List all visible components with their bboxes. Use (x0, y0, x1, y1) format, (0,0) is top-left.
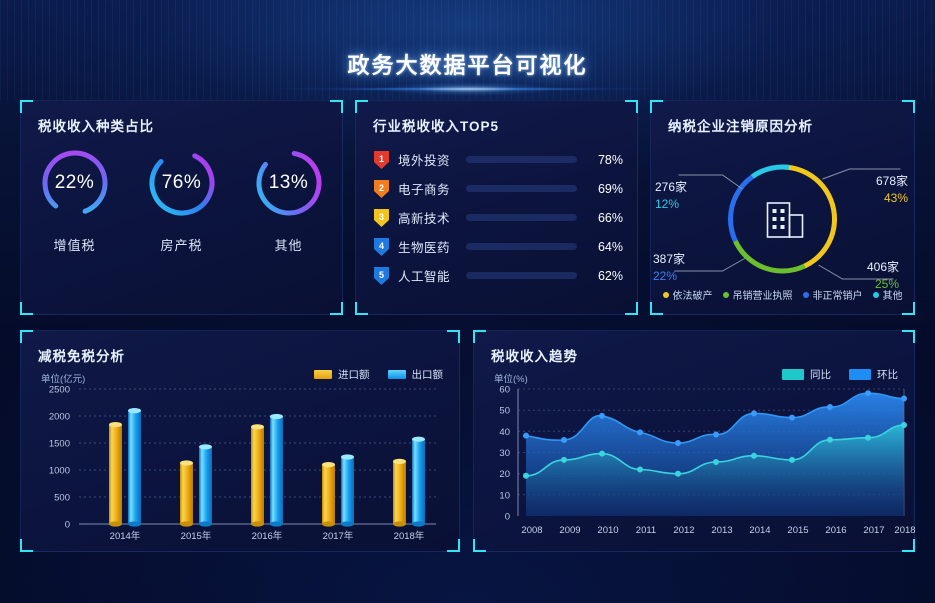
legend-item[interactable]: 其他 (873, 287, 903, 302)
corner-bracket-icon (355, 100, 368, 113)
legend-item[interactable]: 进口额 (314, 367, 370, 382)
rank-bar-track (466, 156, 577, 163)
panel-tax-types: 税收收入种类占比 22% 增值税 (20, 100, 343, 315)
rank-badge-icon: 2 (374, 180, 389, 198)
gauge-ring: 76% (146, 147, 218, 219)
gauge-value: 22% (39, 147, 111, 219)
svg-text:2011: 2011 (636, 525, 656, 536)
svg-text:2018年: 2018年 (394, 530, 425, 542)
legend-swatch-icon (849, 369, 871, 380)
corner-bracket-icon (650, 100, 663, 113)
slice-count-label: 276家 (655, 178, 717, 195)
svg-text:2009: 2009 (559, 525, 580, 536)
svg-text:2014: 2014 (749, 525, 770, 536)
corner-bracket-icon (902, 330, 915, 343)
rank-badge-icon: 4 (374, 238, 389, 256)
rank-badge-icon: 1 (374, 151, 389, 169)
gauge-value: 13% (253, 147, 325, 219)
rank-number: 2 (374, 180, 389, 198)
legend-dot-icon (803, 292, 809, 298)
corner-bracket-icon (625, 100, 638, 113)
svg-text:2016年: 2016年 (252, 530, 283, 542)
panel-title-industry-top5: 行业税收收入TOP5 (373, 115, 499, 135)
panel-title-tax-types: 税收收入种类占比 (38, 115, 154, 135)
legend-label: 其他 (883, 287, 903, 302)
corner-bracket-icon (20, 330, 33, 343)
corner-bracket-icon (902, 100, 915, 113)
legend-label: 依法破产 (673, 287, 713, 302)
svg-text:0: 0 (65, 520, 70, 531)
corner-bracket-icon (650, 302, 663, 315)
rank-bar-track (466, 272, 577, 279)
svg-text:2017年: 2017年 (323, 530, 354, 542)
rank-percent: 66% (587, 211, 623, 225)
area-chart[interactable]: 60 50 40 30 20 10 0 (474, 381, 916, 551)
bar-chart-legend: 进口额 出口额 (314, 367, 443, 382)
rank-badge-icon: 3 (374, 209, 389, 227)
svg-text:2015: 2015 (787, 525, 808, 536)
svg-text:60: 60 (499, 385, 510, 396)
svg-text:1500: 1500 (49, 439, 70, 450)
svg-text:2500: 2500 (49, 385, 70, 396)
corner-bracket-icon (20, 100, 33, 113)
building-icon (767, 203, 802, 237)
svg-text:2000: 2000 (49, 412, 70, 423)
slice-count-label: 406家 (837, 258, 899, 275)
header-light-core (358, 80, 578, 98)
svg-text:2017: 2017 (863, 525, 884, 536)
list-item[interactable]: 1 境外投资 78% (374, 145, 623, 174)
area-chart-legend: 同比 环比 (782, 367, 898, 382)
rank-name: 人工智能 (398, 266, 464, 285)
corner-bracket-icon (625, 302, 638, 315)
rank-list: 1 境外投资 78% 2 电子商务 69% 3 高新技术 66% (374, 145, 623, 290)
slice-count-label: 387家 (653, 250, 715, 267)
corner-bracket-icon (20, 302, 33, 315)
panel-cancel-reasons: 纳税企业注销原因分析 (650, 100, 915, 315)
list-item[interactable]: 3 高新技术 66% (374, 203, 623, 232)
rank-percent: 62% (587, 269, 623, 283)
legend-label: 进口额 (338, 367, 370, 382)
gauge-label: 其他 (239, 235, 339, 254)
legend-item[interactable]: 同比 (782, 367, 831, 382)
gauge-ring: 22% (39, 147, 111, 219)
legend-label: 同比 (810, 367, 831, 382)
svg-text:40: 40 (499, 427, 510, 438)
rank-name: 生物医药 (398, 237, 464, 256)
gauge-value: 76% (146, 147, 218, 219)
rank-bar-track (466, 214, 577, 221)
svg-text:2014年: 2014年 (110, 530, 141, 542)
legend-dot-icon (723, 292, 729, 298)
svg-text:1000: 1000 (49, 466, 70, 477)
rank-number: 3 (374, 209, 389, 227)
rank-number: 5 (374, 267, 389, 285)
gauge-qita[interactable]: 13% 其他 (239, 147, 339, 254)
corner-bracket-icon (447, 330, 460, 343)
svg-text:30: 30 (499, 448, 510, 459)
legend-item[interactable]: 出口额 (388, 367, 444, 382)
legend-dot-icon (873, 292, 879, 298)
svg-text:20: 20 (499, 469, 510, 480)
rank-name: 高新技术 (398, 208, 464, 227)
gauge-fangchanshui[interactable]: 76% 房产税 (132, 147, 232, 254)
svg-text:50: 50 (499, 406, 510, 417)
svg-text:2010: 2010 (597, 525, 618, 536)
svg-text:2008: 2008 (521, 525, 542, 536)
panel-tax-reduction: 减税免税分析 单位(亿元) 进口额 出口额 (20, 330, 460, 552)
legend-label: 吊销营业执照 (733, 287, 793, 302)
panel-title-tax-reduction: 减税免税分析 (38, 345, 125, 365)
panel-industry-top5: 行业税收收入TOP5 1 境外投资 78% 2 电子商务 69% 3 (355, 100, 638, 315)
rank-bar-track (466, 185, 577, 192)
gauge-ring: 13% (253, 147, 325, 219)
rank-bar-track (466, 243, 577, 250)
rank-name: 境外投资 (398, 150, 464, 169)
rank-percent: 69% (587, 182, 623, 196)
rank-name: 电子商务 (398, 179, 464, 198)
legend-swatch-icon (388, 370, 406, 379)
legend-item[interactable]: 非正常销户 (803, 287, 863, 302)
gauge-label: 房产税 (132, 235, 232, 254)
slice-count-label: 678家 (846, 172, 908, 189)
rank-percent: 78% (587, 153, 623, 167)
gauge-label: 增值税 (25, 235, 125, 254)
list-item[interactable]: 4 生物医药 64% (374, 232, 623, 261)
svg-text:2018: 2018 (894, 525, 915, 536)
legend-swatch-icon (782, 369, 804, 380)
slice-percent-label: 43% (846, 191, 908, 205)
list-item[interactable]: 5 人工智能 62% (374, 261, 623, 290)
panel-tax-trend: 税收收入趋势 单位(%) 同比 环比 (473, 330, 915, 552)
corner-bracket-icon (473, 330, 486, 343)
legend-item[interactable]: 吊销营业执照 (723, 287, 793, 302)
legend-label: 非正常销户 (813, 287, 863, 302)
legend-item[interactable]: 依法破产 (663, 287, 713, 302)
donut-chart-cancel-reasons[interactable]: 678家 43% 276家 12% 387家 22% 406家 25% (651, 131, 914, 291)
legend-dot-icon (663, 292, 669, 298)
slice-percent-label: 12% (655, 197, 717, 211)
corner-bracket-icon (330, 302, 343, 315)
page-title: 政务大数据平台可视化 (0, 48, 935, 80)
legend-label: 环比 (877, 367, 898, 382)
rank-number: 4 (374, 238, 389, 256)
legend-item[interactable]: 环比 (849, 367, 898, 382)
gauge-zengzhishui[interactable]: 22% 增值税 (25, 147, 125, 254)
rank-number: 1 (374, 151, 389, 169)
slice-percent-label: 22% (653, 269, 715, 283)
corner-bracket-icon (330, 100, 343, 113)
svg-text:0: 0 (505, 512, 510, 523)
svg-text:2015年: 2015年 (181, 530, 212, 542)
corner-bracket-icon (355, 302, 368, 315)
svg-text:2013: 2013 (711, 525, 732, 536)
header-light-streak (208, 86, 728, 92)
panel-title-tax-trend: 税收收入趋势 (491, 345, 578, 365)
rank-badge-icon: 5 (374, 267, 389, 285)
list-item[interactable]: 2 电子商务 69% (374, 174, 623, 203)
corner-bracket-icon (902, 302, 915, 315)
donut-legend: 依法破产 吊销营业执照 非正常销户 其他 (651, 287, 914, 302)
bar-chart[interactable]: 2500 2000 1500 1000 500 0 (21, 381, 461, 551)
svg-text:2012: 2012 (673, 525, 694, 536)
svg-text:2016: 2016 (825, 525, 846, 536)
legend-label: 出口额 (412, 367, 444, 382)
svg-text:500: 500 (54, 493, 70, 504)
svg-text:10: 10 (499, 490, 510, 501)
gauge-row: 22% 增值税 76% 房产税 (21, 147, 342, 254)
rank-percent: 64% (587, 240, 623, 254)
legend-swatch-icon (314, 370, 332, 379)
